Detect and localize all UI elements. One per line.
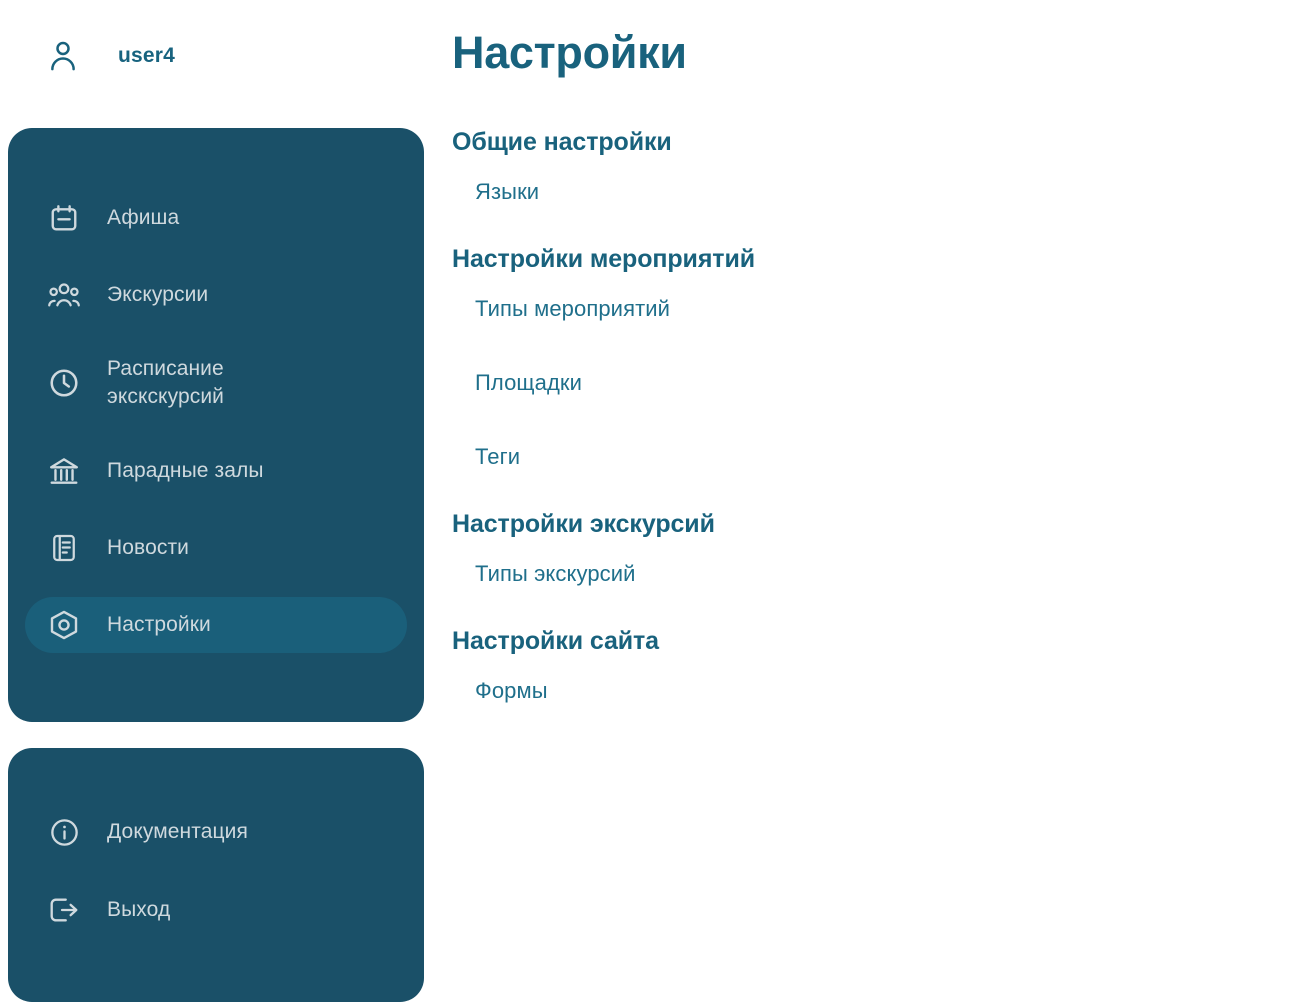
account-username: user4 [118,44,175,68]
sidebar-nav-panel: Афиша Экскурсии [8,128,424,722]
section-heading: Общие настройки [452,128,1308,157]
news-icon [47,531,81,565]
section-links: Типы экскурсий [452,561,1308,587]
settings-link-tags[interactable]: Теги [452,444,1308,470]
clock-icon [47,366,81,400]
settings-link-forms[interactable]: Формы [452,678,1308,704]
sidebar-item-afisha[interactable]: Афиша [25,190,407,246]
section-heading: Настройки мероприятий [452,245,1308,274]
user-icon [46,39,80,73]
logout-icon [47,893,81,927]
settings-icon [47,608,81,642]
sidebar-item-label: Расписание экскскурсий [107,355,317,411]
settings-section-events: Настройки мероприятий Типы мероприятий П… [452,245,1308,470]
settings-link-event-types[interactable]: Типы мероприятий [452,296,1308,322]
settings-section-site: Настройки сайта Формы [452,627,1308,704]
sidebar-item-news[interactable]: Новости [25,520,407,576]
sidebar-item-excursions[interactable]: Экскурсии [25,267,407,323]
sidebar-item-halls[interactable]: Парадные залы [25,443,407,499]
page-title: Настройки [452,26,1308,80]
sidebar-item-documentation[interactable]: Документация [25,806,407,858]
app-screen: user4 Афиша [0,0,1308,1002]
settings-section-excursions: Настройки экскурсий Типы экскурсий [452,510,1308,587]
sidebar-item-label: Экскурсии [107,281,208,309]
section-heading: Настройки экскурсий [452,510,1308,539]
settings-link-languages[interactable]: Языки [452,179,1308,205]
sidebar-item-label: Парадные залы [107,457,264,485]
sidebar-item-label: Документация [107,818,248,846]
sidebar-item-label: Настройки [107,611,211,639]
info-icon [47,815,81,849]
sidebar-item-logout[interactable]: Выход [25,884,407,936]
settings-link-venues[interactable]: Площадки [452,370,1308,396]
sidebar-item-label: Афиша [107,204,179,232]
section-links: Формы [452,678,1308,704]
settings-link-excursion-types[interactable]: Типы экскурсий [452,561,1308,587]
sidebar-utility-panel: Документация Выход [8,748,424,1002]
calendar-icon [47,201,81,235]
account-header[interactable]: user4 [46,32,175,80]
main-content: Настройки Общие настройки Языки Настройк… [452,0,1308,1002]
sidebar-item-schedule[interactable]: Расписание экскскурсий [25,344,407,422]
people-icon [47,278,81,312]
sidebar-item-label: Новости [107,534,189,562]
settings-section-general: Общие настройки Языки [452,128,1308,205]
sidebar-item-settings[interactable]: Настройки [25,597,407,653]
section-links: Типы мероприятий Площадки Теги [452,296,1308,470]
section-links: Языки [452,179,1308,205]
sidebar: user4 Афиша [0,0,432,1002]
section-heading: Настройки сайта [452,627,1308,656]
sidebar-item-label: Выход [107,896,170,924]
museum-icon [47,454,81,488]
